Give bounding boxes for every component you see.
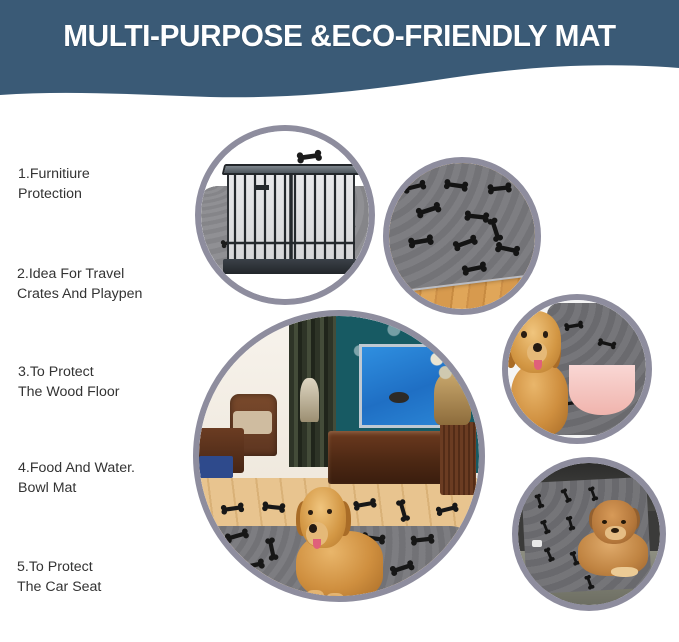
food-bowl-scene [508, 300, 646, 438]
golden-retriever-dog [286, 487, 387, 596]
living-room-scene [199, 316, 479, 596]
feature-item-2: 2.Idea For Travel Crates And Playpen [17, 264, 142, 304]
feature-item-3: 3.To Protect The Wood Floor [18, 362, 119, 402]
wood-floor-mat-edge [389, 163, 535, 295]
feature-item-4: 4.Food And Water. Bowl Mat [18, 458, 135, 498]
photo-circle-wood-floor [383, 157, 541, 315]
photo-circle-food-bowl [502, 294, 652, 444]
decorative-pillar [440, 422, 476, 495]
flower-arrangement [423, 341, 479, 386]
feature-item-1: 1.Furnitiure Protection [18, 164, 90, 204]
page-title: MULTI-PURPOSE &ECO-FRIENDLY MAT [14, 18, 666, 54]
pink-food-bowl [569, 365, 635, 415]
photo-circle-car-seat [512, 457, 666, 611]
wood-floor-scene [389, 163, 535, 309]
table-lamp [300, 378, 320, 423]
crate-bars [227, 171, 355, 263]
crate-base-tray [223, 259, 361, 274]
tv-screen-object [389, 392, 409, 403]
photo-circle-crate [195, 125, 375, 305]
puppy-on-car-seat [575, 500, 655, 580]
feature-item-5: 5.To Protect The Car Seat [17, 557, 101, 597]
crate-roof [222, 164, 365, 175]
photo-collage [0, 0, 679, 642]
blue-rug [199, 456, 233, 478]
crate-scene [201, 131, 369, 299]
golden-retriever-at-bowl [508, 306, 574, 436]
mat-care-tag [532, 540, 542, 547]
car-seat-scene [518, 463, 660, 605]
photo-circle-living-room [193, 310, 485, 602]
